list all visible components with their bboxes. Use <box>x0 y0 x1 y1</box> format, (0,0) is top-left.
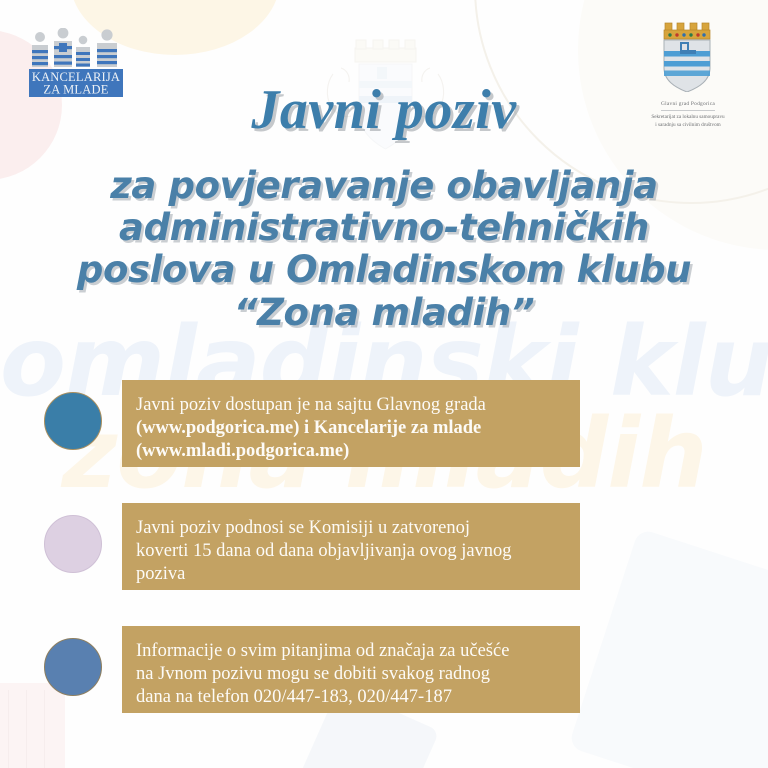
bullet-dot-2 <box>44 515 102 573</box>
podgorica-crest-icon <box>657 18 719 92</box>
poster-subtitle-line-4: “Zona mladih” <box>0 292 768 334</box>
bullet-dot-3 <box>44 638 102 696</box>
information-point: Informacije o svim pitanjima od značaja … <box>0 626 768 731</box>
information-point-box-2: Javni poziv podnosi se Komisiji u zatvor… <box>122 503 580 590</box>
point-2-line-1: Javni poziv podnosi se Komisiji u zatvor… <box>136 517 564 540</box>
point-2-line-3: poziva <box>136 563 564 586</box>
point-3-line-1: Informacije o svim pitanjima od značaja … <box>136 640 564 663</box>
information-points-list: Javni poziv dostupan je na sajtu Glavnog… <box>0 380 768 731</box>
poster-subtitle-line-1: za povjeravanje obavljanja <box>0 165 768 207</box>
poster-subtitle: za povjeravanje obavljanja administrativ… <box>0 165 768 334</box>
information-point-box-3: Informacije o svim pitanjima od značaja … <box>122 626 580 713</box>
information-point-box-1: Javni poziv dostupan je na sajtu Glavnog… <box>122 380 580 467</box>
point-3-line-2: na Jvnom pozivu mogu se dobiti svakog ra… <box>136 663 564 686</box>
row-spacer <box>0 608 768 626</box>
poster-subtitle-line-2: administrativno-tehničkih <box>0 207 768 249</box>
poster-title: Javni poziv <box>0 82 768 138</box>
poster-subtitle-line-3: poslova u Omladinskom klubu <box>0 249 768 291</box>
point-1-line-2: (www.podgorica.me) i Kancelarije za mlad… <box>136 417 564 440</box>
row-spacer <box>0 485 768 503</box>
point-3-line-3: dana na telefon 020/447-183, 020/447-187 <box>136 686 564 709</box>
point-1-line-1: Javni poziv dostupan je na sajtu Glavnog… <box>136 394 564 417</box>
information-point: Javni poziv dostupan je na sajtu Glavnog… <box>0 380 768 485</box>
poster-canvas: omladinski klub zona mladih <box>0 0 768 768</box>
point-2-line-2: koverti 15 dana od dana objavljivanja ov… <box>136 540 564 563</box>
information-point: Javni poziv podnosi se Komisiji u zatvor… <box>0 503 768 608</box>
bullet-dot-1 <box>44 392 102 450</box>
point-1-line-3: (www.mladi.podgorica.me) <box>136 440 564 463</box>
